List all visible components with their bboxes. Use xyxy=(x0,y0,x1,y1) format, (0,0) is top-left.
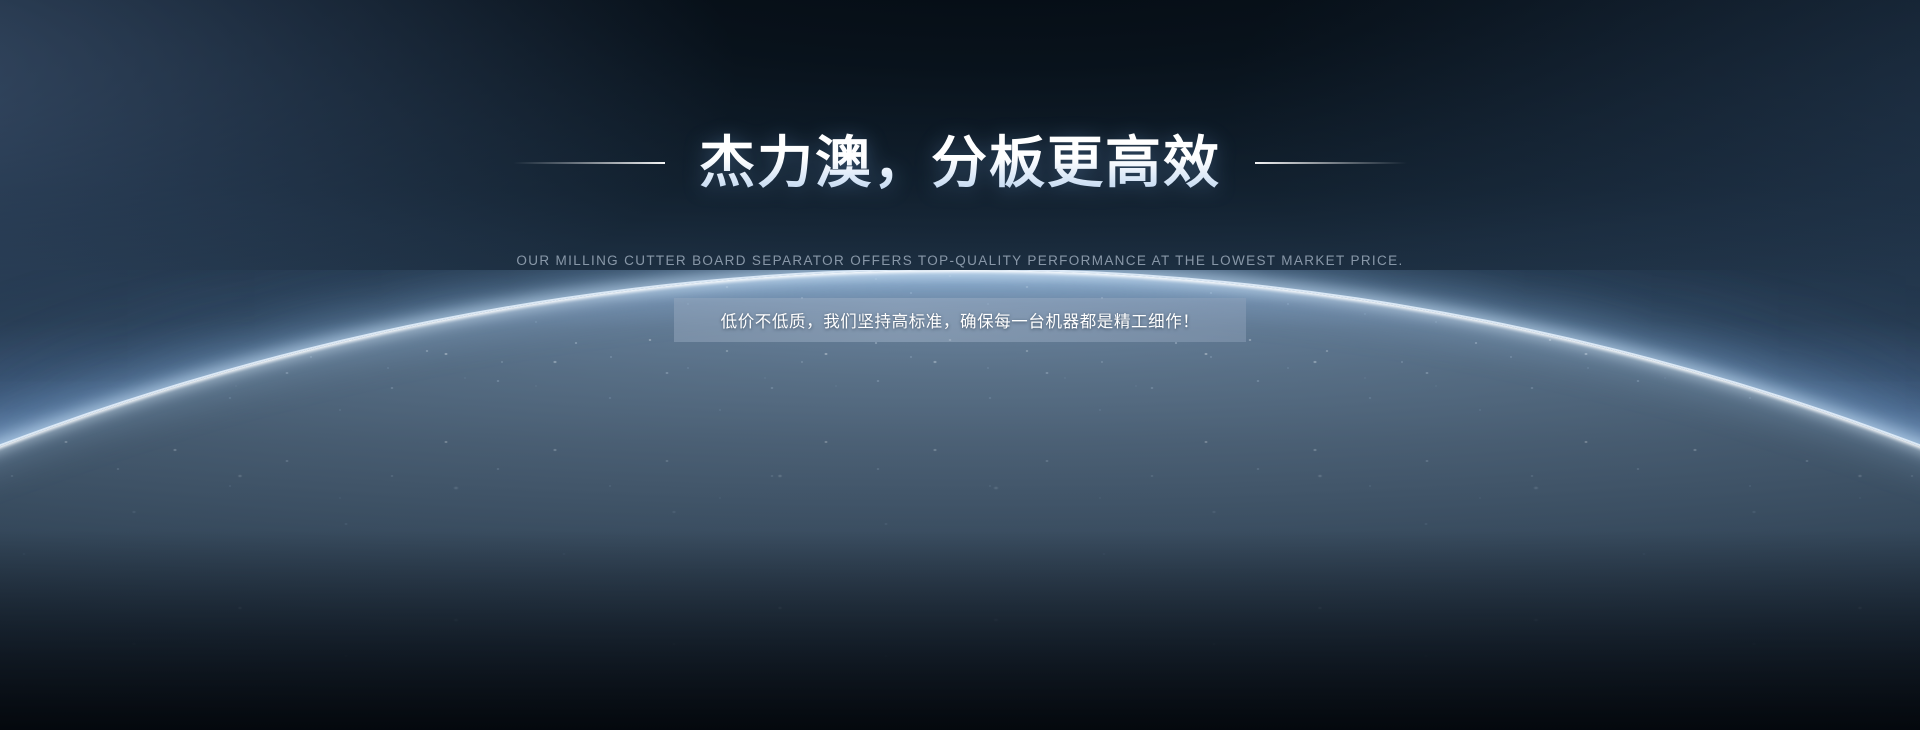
highlight-banner-row: 低价不低质，我们坚持高标准，确保每一台机器都是精工细作！ xyxy=(0,298,1920,342)
city-lights-band-foreground xyxy=(0,450,1920,730)
hero-banner: INNOVATION 杰力澳，分板更高效 OUR MILLING CUTTER … xyxy=(0,0,1920,730)
decorative-rule-right xyxy=(1255,162,1407,164)
highlight-banner: 低价不低质，我们坚持高标准，确保每一台机器都是精工细作！ xyxy=(674,298,1246,342)
city-lights-band-mid xyxy=(0,340,1920,520)
hero-subtitle: OUR MILLING CUTTER BOARD SEPARATOR OFFER… xyxy=(0,253,1920,268)
headline-row: 杰力澳，分板更高效 xyxy=(0,132,1920,194)
decorative-rule-left xyxy=(513,162,665,164)
page-title: 杰力澳，分板更高效 xyxy=(699,132,1221,194)
